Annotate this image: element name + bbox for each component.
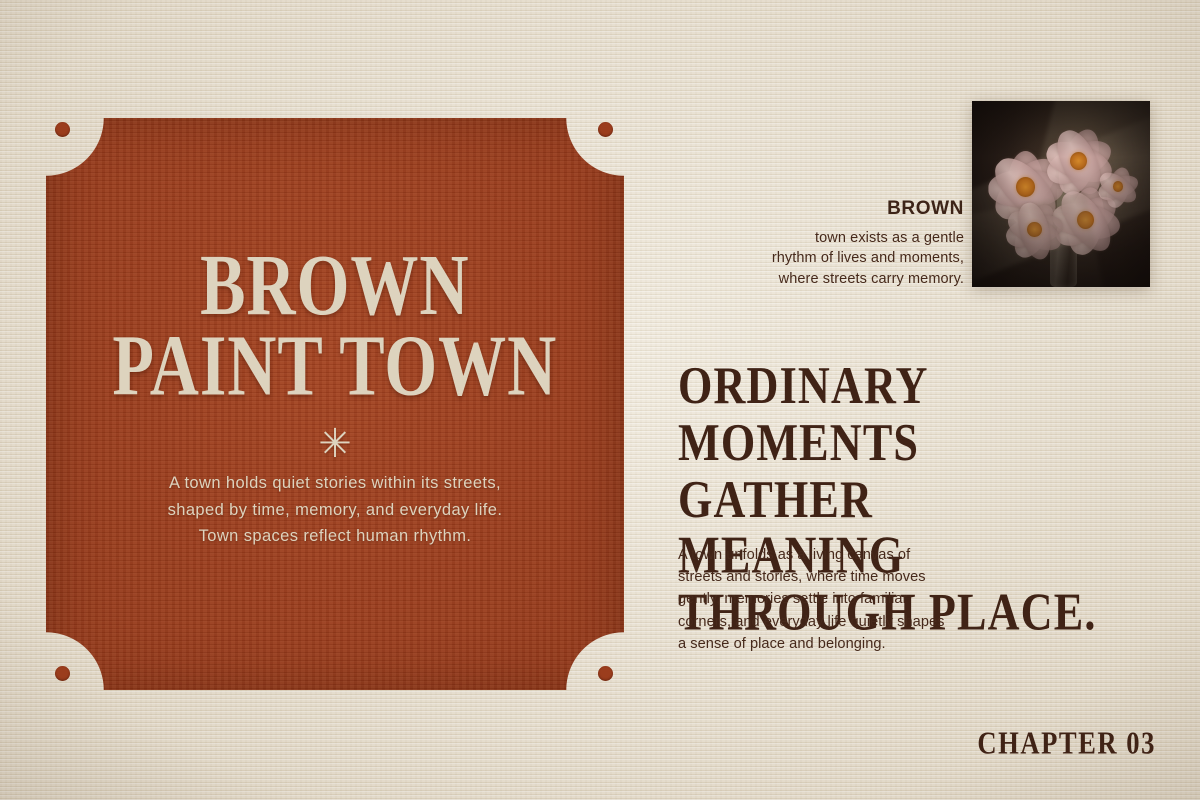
- caption-kicker: BROWN: [676, 198, 964, 221]
- card-subtitle: A town holds quiet stories within its st…: [168, 470, 503, 550]
- asterisk-icon: ✳: [318, 424, 352, 464]
- photo-scene: [972, 101, 1150, 287]
- chapter-label: CHAPTER 03: [977, 726, 1156, 762]
- corner-dot-top-right: [598, 122, 613, 137]
- photo-vignette: [972, 101, 1150, 287]
- brown-caption-block: BROWN town exists as a gentle rhythm of …: [676, 198, 964, 290]
- corner-dot-top-left: [55, 122, 70, 137]
- brown-card-content: BROWN PAINT TOWN ✳ A town holds quiet st…: [46, 118, 624, 690]
- corner-dot-bottom-left: [55, 666, 70, 681]
- corner-dot-bottom-right: [598, 666, 613, 681]
- brown-card: BROWN PAINT TOWN ✳ A town holds quiet st…: [46, 118, 624, 690]
- caption-text: town exists as a gentle rhythm of lives …: [676, 228, 964, 290]
- card-title: BROWN PAINT TOWN: [113, 246, 558, 407]
- flower-photo: [972, 101, 1150, 287]
- poster-page: BROWN PAINT TOWN ✳ A town holds quiet st…: [0, 0, 1200, 800]
- right-column: BROWN town exists as a gentle rhythm of …: [676, 0, 1200, 800]
- body-paragraph: A town unfolds as a living canvas of str…: [678, 544, 990, 655]
